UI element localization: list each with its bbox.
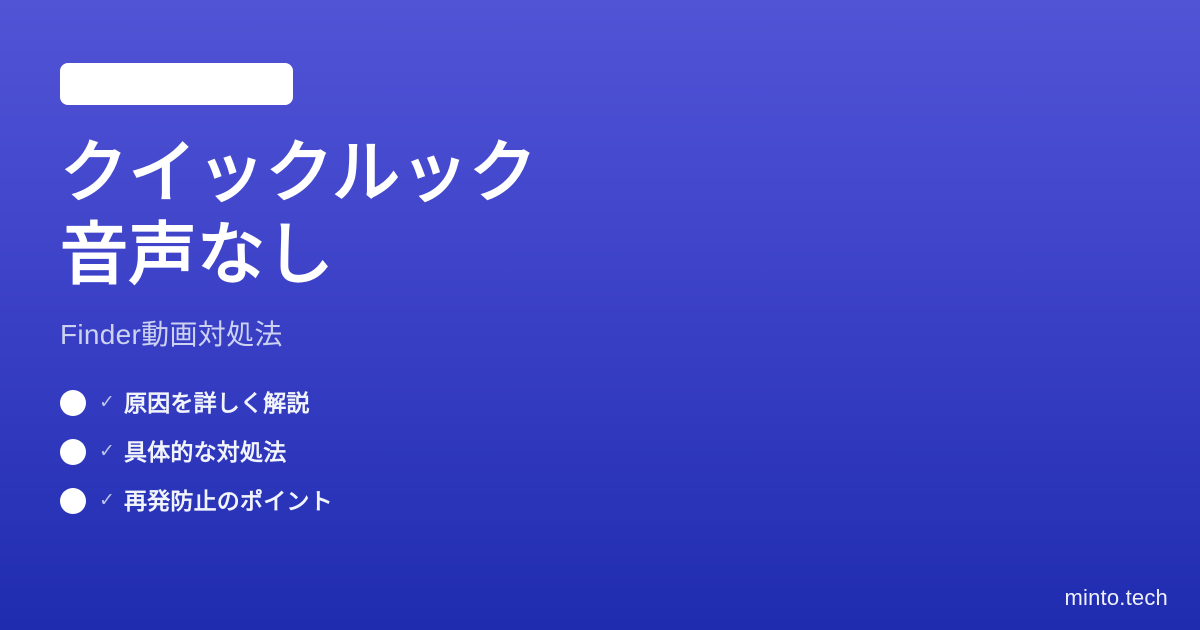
bullet-dot-icon (60, 488, 86, 514)
category-badge (60, 63, 293, 105)
list-item-label: 再発防止のポイント (124, 488, 333, 514)
list-item: ✓ 原因を詳しく解説 (60, 390, 1140, 416)
page-subtitle: Finder動画対処法 (60, 318, 1140, 352)
bullet-dot-icon (60, 439, 86, 465)
check-icon: ✓ (97, 390, 117, 416)
list-item-label: 原因を詳しく解説 (124, 390, 310, 416)
list-item-label: 具体的な対処法 (124, 439, 286, 465)
bullet-dot-icon (60, 390, 86, 416)
slide-canvas: クイックルック 音声なし Finder動画対処法 ✓ 原因を詳しく解説 ✓ 具体… (0, 0, 1200, 630)
page-title-line-1: クイックルック (60, 132, 1140, 214)
check-icon: ✓ (97, 439, 117, 465)
list-item: ✓ 再発防止のポイント (60, 488, 1140, 514)
list-item: ✓ 具体的な対処法 (60, 439, 1140, 465)
site-branding: minto.tech (1065, 584, 1169, 612)
page-title-line-2: 音声なし (60, 214, 1140, 296)
page-title: クイックルック 音声なし (60, 132, 1140, 296)
feature-list: ✓ 原因を詳しく解説 ✓ 具体的な対処法 ✓ 再発防止のポイント (60, 390, 1140, 514)
check-icon: ✓ (97, 488, 117, 514)
